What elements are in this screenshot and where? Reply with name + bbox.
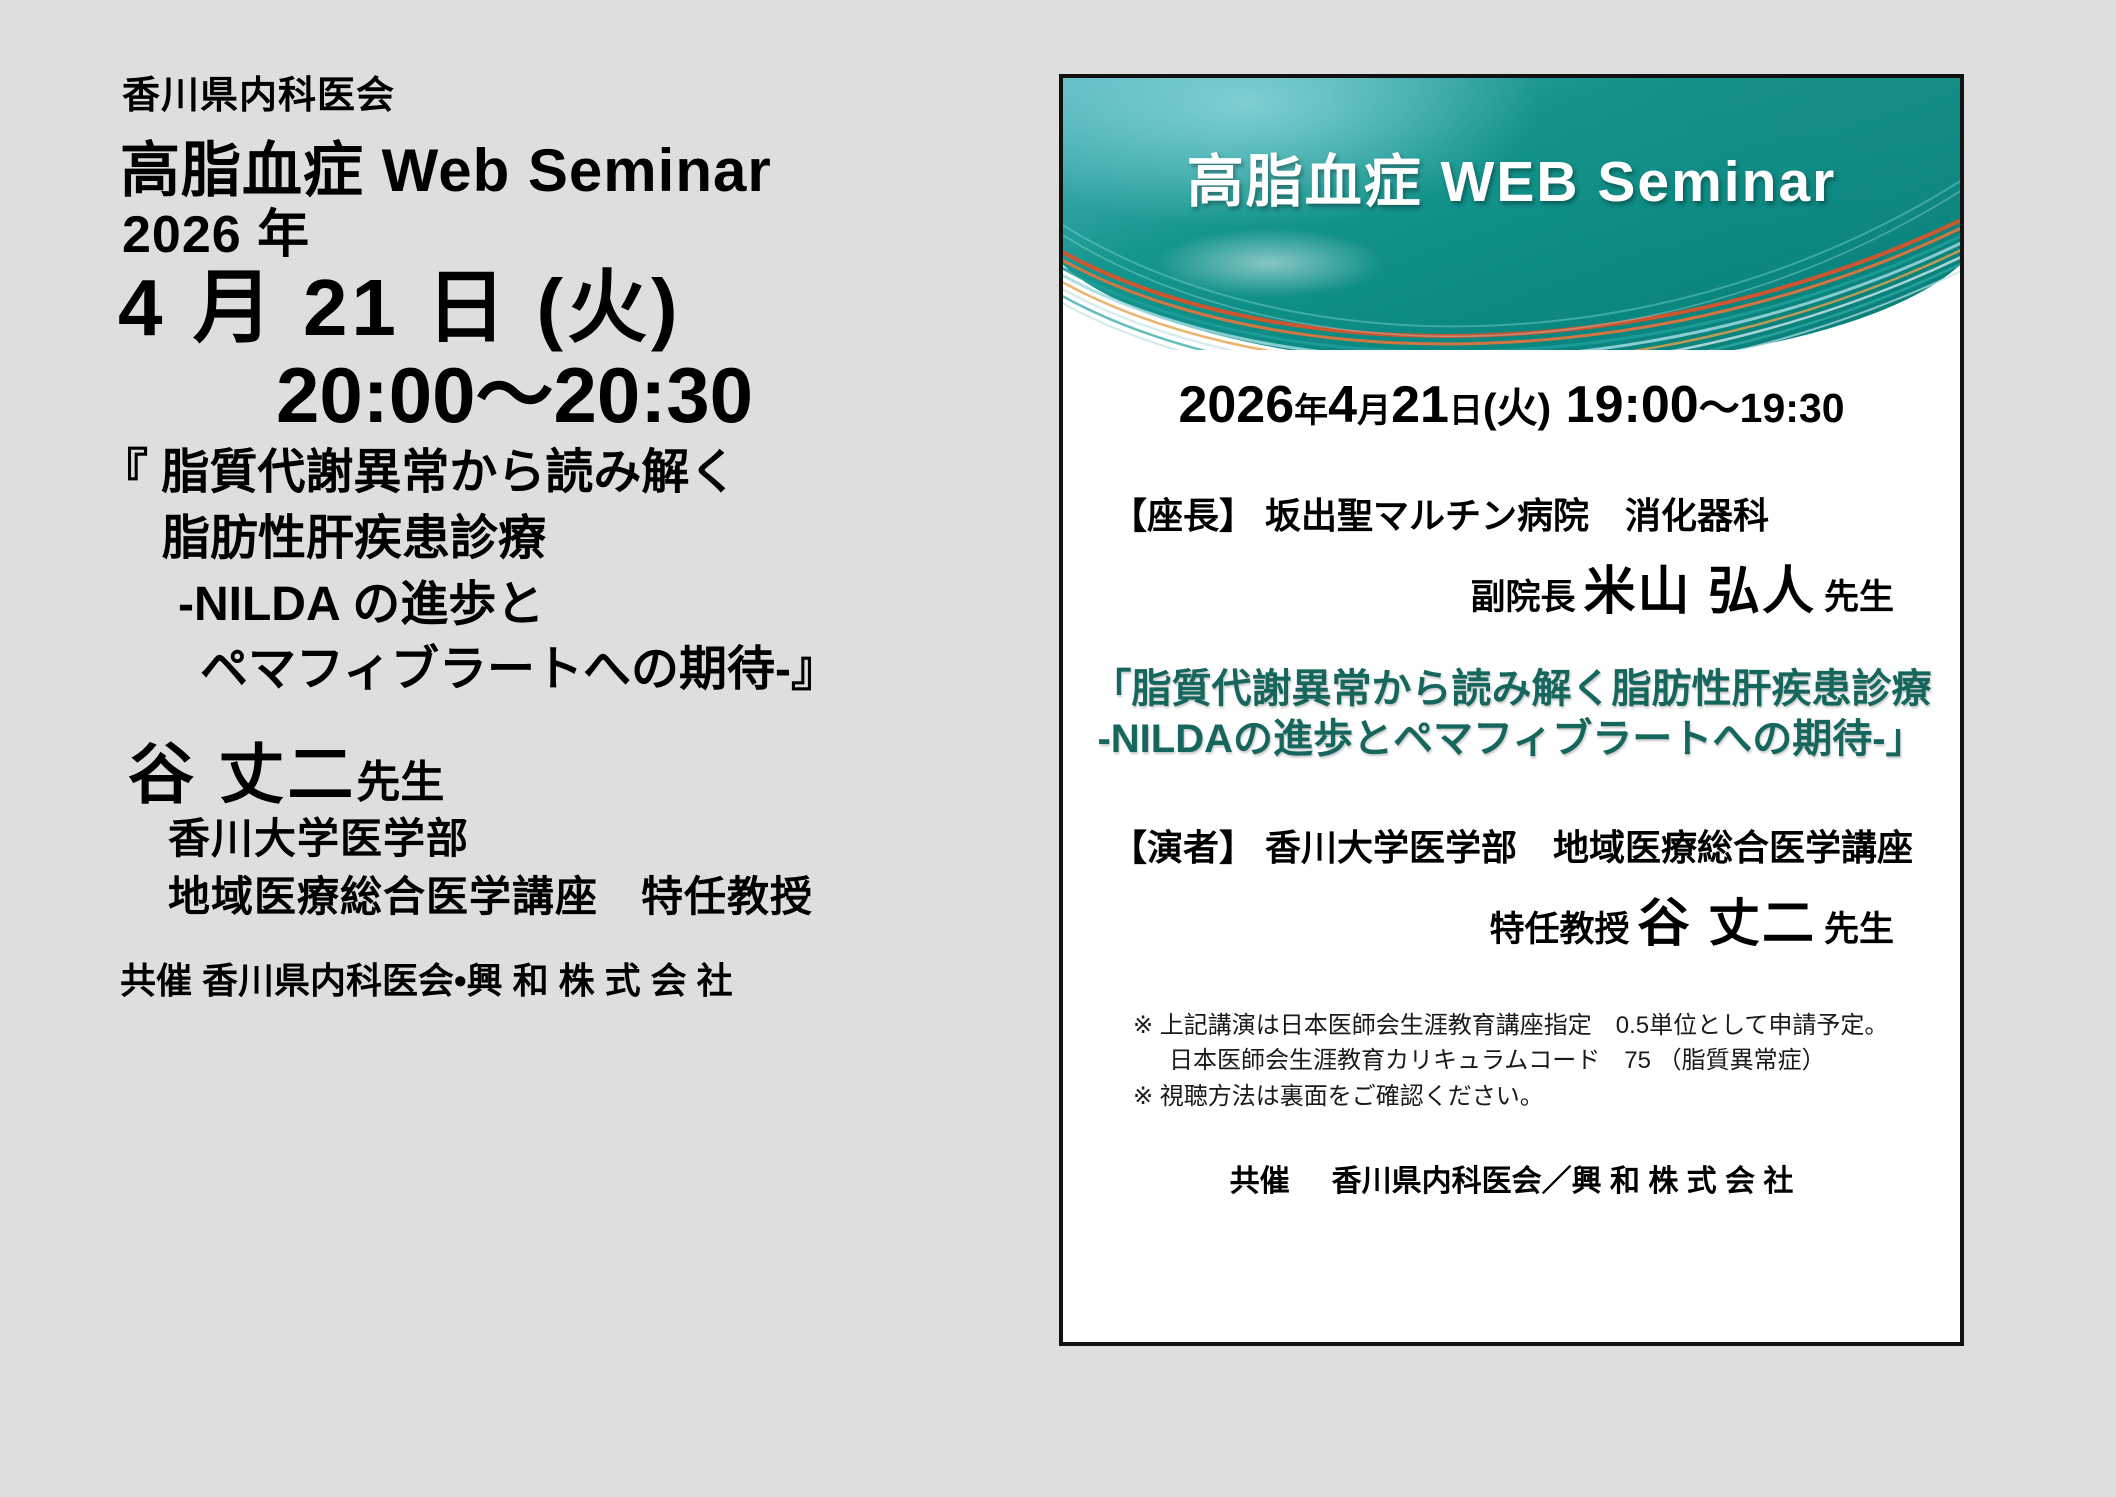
lecture-title-line-3: -NILDA の進歩と [100,572,820,638]
seminar-flyer-image: 高脂血症 WEB Seminar 2026年4月21日(火) 19:00〜19:… [1059,74,1964,1346]
flyer-presenter-title: 特任教授 [1490,910,1630,949]
flyer-presenter-honorific: 先生 [1824,910,1894,949]
speaker-name-block: 谷 丈二先生 [128,721,444,817]
flyer-lecture-title-block: 「脂質代謝異常から読み解く脂肪性肝疾患診療 -NILDAの進歩とペマフィブラート… [1063,664,1960,765]
flyer-date-weekday: (火) [1483,385,1551,431]
lecture-title-line-2: 脂肪性肝疾患診療 [100,506,820,572]
speaker-affiliation-line-2: 地域医療総合医学講座 特任教授 [168,863,813,924]
flyer-chair-name: 米山 弘人 [1576,563,1824,621]
flyer-presenter-name-line: 特任教授谷 丈二先生 [1063,881,1960,956]
flyer-start-time: 19:00 [1566,376,1699,434]
flyer-cohost-line: 共催香川県内科医会／興 和 株 式 会 社 [1063,1156,1960,1200]
event-time: 20:00〜20:30 [276,333,753,445]
flyer-date-year: 2026 [1178,376,1294,434]
flyer-banner-title: 高脂血症 WEB Seminar [1063,136,1960,218]
flyer-banner: 高脂血症 WEB Seminar [1063,78,1960,350]
flyer-date-day: 21 [1391,376,1449,434]
flyer-date-year-unit: 年 [1294,392,1328,430]
flyer-chair-line: 【座長】 坂出聖マルチン病院 消化器科 [1063,487,1960,539]
organization-name: 香川県内科医会 [122,64,395,119]
flyer-date-line: 2026年4月21日(火) 19:00〜19:30 [1063,374,1960,435]
flyer-date-month-unit: 月 [1357,392,1391,430]
flyer-note-line-3: ※ 視聴方法は裏面をご確認ください。 [1133,1079,1960,1115]
flyer-note-line-1: ※ 上記講演は日本医師会生涯教育講座指定 0.5単位として申請予定。 [1133,1012,1888,1039]
flyer-date-month: 4 [1328,376,1357,434]
flyer-end-time: 19:30 [1740,385,1845,431]
flyer-notes-block: ※ 上記講演は日本医師会生涯教育講座指定 0.5単位として申請予定。 日本医師会… [1063,1008,1960,1115]
flyer-lecture-title-line-1: 「脂質代謝異常から読み解く脂肪性肝疾患診療 [1063,664,1960,714]
lecture-title-line-1: 『 脂質代謝異常から読み解く [100,440,820,506]
flyer-chair-title: 副院長 [1471,578,1576,617]
flyer-cohost-label: 共催 [1230,1165,1290,1198]
flyer-presenter-line: 【演者】 香川大学医学部 地域医療総合医学講座 [1063,819,1960,871]
speaker-honorific: 先生 [356,758,444,807]
lecture-title-line-4: ペマフィブラートへの期待-』 [100,637,820,703]
speaker-affiliation-line-1: 香川大学医学部 [168,805,469,866]
flyer-lecture-title-line-2: -NILDAの進歩とペマフィブラートへの期待-」 [1063,714,1960,764]
flyer-date-day-unit: 日 [1449,392,1483,430]
flyer-chair-honorific: 先生 [1824,578,1894,617]
flyer-chair-institution: 坂出聖マルチン病院 消化器科 [1265,495,1769,536]
lecture-title-block: 『 脂質代謝異常から読み解く 脂肪性肝疾患診療 -NILDA の進歩と ペマフィ… [100,440,820,703]
flyer-note-line-2: 日本医師会生涯教育カリキュラムコード 75 （脂質異常症） [1133,1043,1960,1079]
flyer-chair-name-line: 副院長米山 弘人先生 [1063,549,1960,624]
speaker-name: 谷 丈二 [128,737,356,811]
flyer-presenter-name: 谷 丈二 [1630,895,1824,953]
flyer-cohost-value: 香川県内科医会／興 和 株 式 会 社 [1332,1165,1794,1198]
flyer-chair-label: 【座長】 [1111,495,1255,536]
left-info-column: 香川県内科医会 高脂血症 Web Seminar 2026 年 4 月 21 日… [0,0,1060,1497]
flyer-time-separator: 〜 [1699,385,1740,431]
left-cohost-line: 共催 香川県内科医会•興 和 株 式 会 社 [120,952,733,1004]
flyer-presenter-label: 【演者】 [1111,827,1255,868]
flyer-presenter-institution: 香川大学医学部 地域医療総合医学講座 [1265,827,1913,868]
